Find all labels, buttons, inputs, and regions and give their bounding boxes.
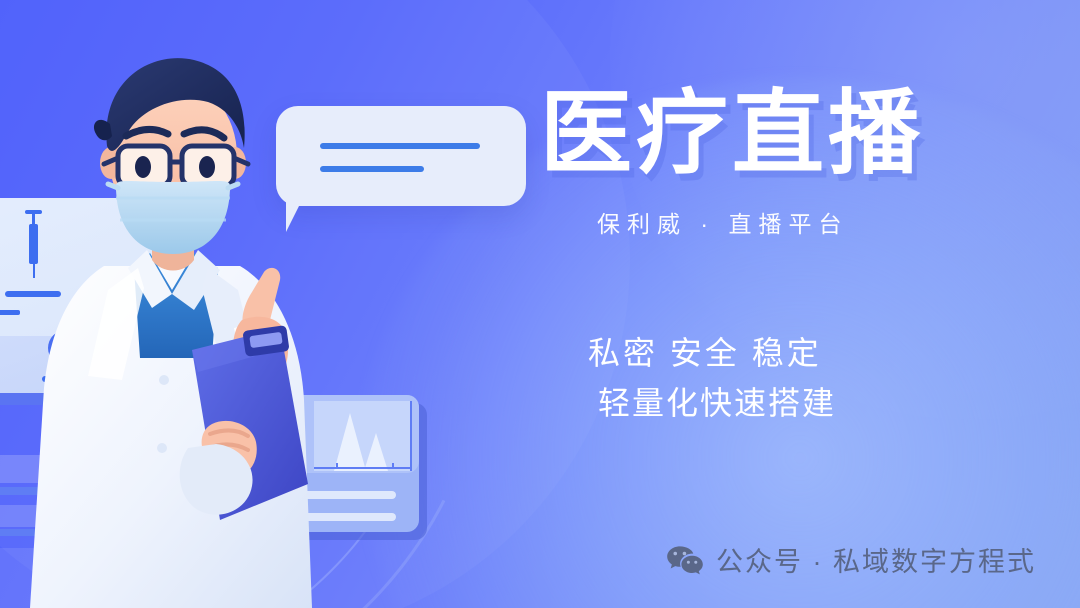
- footer-credit: 公众号 · 私域数字方程式: [666, 540, 1036, 579]
- footer-text: 公众号 · 私域数字方程式: [716, 540, 1036, 579]
- wechat-icon: [666, 545, 704, 575]
- page-title: 医疗直播: [540, 88, 924, 180]
- bubble-line: [320, 143, 480, 149]
- bubble-line: [320, 166, 424, 172]
- feature-line-1: 私密 安全 稳定: [588, 328, 822, 374]
- speech-bubble-tail: [286, 200, 302, 232]
- feature-line-2: 轻量化快速搭建: [598, 378, 836, 424]
- poster-canvas: 医疗直播 保利威 · 直播平台 私密 安全 稳定 轻量化快速搭建 公众号 · 私…: [0, 0, 1080, 608]
- speech-bubble: [276, 106, 526, 206]
- page-subtitle: 保利威 · 直播平台: [597, 205, 848, 239]
